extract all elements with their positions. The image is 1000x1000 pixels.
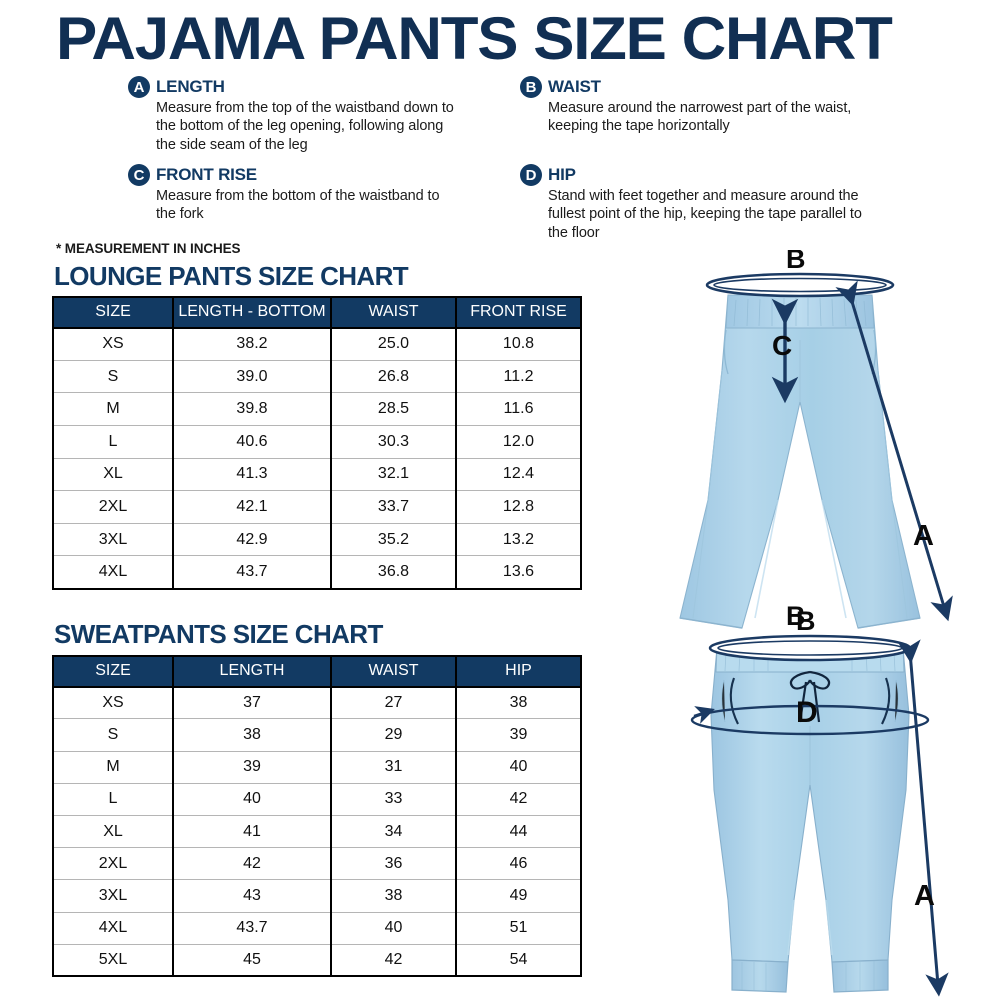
measurement-cell: 40 <box>173 783 331 815</box>
measurement-cell: 26.8 <box>331 360 456 393</box>
measurement-cell: 49 <box>456 880 581 912</box>
measurement-cell: 42.1 <box>173 491 331 524</box>
legend-label-hip: HIP <box>548 165 576 185</box>
table-row: XL41.332.112.4 <box>53 458 581 491</box>
column-header: LENGTH <box>173 656 331 687</box>
measurement-cell: 51 <box>456 912 581 944</box>
legend-desc-hip: Stand with feet together and measure aro… <box>548 187 880 242</box>
measurement-cell: 40 <box>456 751 581 783</box>
badge-a-icon: A <box>128 76 150 98</box>
column-header: WAIST <box>331 656 456 687</box>
measurement-cell: 10.8 <box>456 328 581 361</box>
legend-item-front-rise: C FRONT RISE Measure from the bottom of … <box>128 164 458 224</box>
section-heading-lounge: LOUNGE PANTS SIZE CHART <box>54 261 408 292</box>
size-cell: 4XL <box>53 556 173 589</box>
table-header-row: SIZE LENGTH WAIST HIP <box>53 656 581 687</box>
lounge-pants-diagram: B C A B <box>600 250 1000 630</box>
table-row: 3XL433849 <box>53 880 581 912</box>
measurement-cell: 42.9 <box>173 523 331 556</box>
measurement-cell: 54 <box>456 944 581 976</box>
table-row: M39.828.511.6 <box>53 393 581 426</box>
table-sweatpants: SIZE LENGTH WAIST HIP XS372738S382939M39… <box>52 655 582 977</box>
table-row: XS372738 <box>53 687 581 719</box>
legend-desc-waist: Measure around the narrowest part of the… <box>548 99 880 136</box>
size-cell: M <box>53 751 173 783</box>
size-cell: XL <box>53 458 173 491</box>
measurement-cell: 43 <box>173 880 331 912</box>
column-header: LENGTH - BOTTOM <box>173 297 331 328</box>
table-row: S39.026.811.2 <box>53 360 581 393</box>
table-row: XS38.225.010.8 <box>53 328 581 361</box>
measurement-cell: 39 <box>456 719 581 751</box>
measurement-cell: 32.1 <box>331 458 456 491</box>
sweatpants-diagram: B D A <box>620 600 1000 1000</box>
legend-desc-length: Measure from the top of the waistband do… <box>156 99 458 154</box>
measurement-cell: 38 <box>331 880 456 912</box>
measurement-cell: 43.7 <box>173 556 331 589</box>
table-row: 4XL43.736.813.6 <box>53 556 581 589</box>
measurement-cell: 13.2 <box>456 523 581 556</box>
measurement-cell: 38 <box>456 687 581 719</box>
measurement-cell: 35.2 <box>331 523 456 556</box>
column-header: WAIST <box>331 297 456 328</box>
marker-label-b-top: B <box>786 250 806 274</box>
measurement-cell: 39 <box>173 751 331 783</box>
measurement-cell: 11.2 <box>456 360 581 393</box>
measurement-cell: 31 <box>331 751 456 783</box>
measurement-cell: 29 <box>331 719 456 751</box>
legend-label-length: LENGTH <box>156 77 225 97</box>
size-cell: S <box>53 360 173 393</box>
size-cell: L <box>53 426 173 459</box>
marker-b-waist-ellipse <box>707 274 893 296</box>
measurement-cell: 33 <box>331 783 456 815</box>
legend-item-hip: D HIP Stand with feet together and measu… <box>520 164 880 242</box>
column-header: SIZE <box>53 297 173 328</box>
table-row: 5XL454254 <box>53 944 581 976</box>
legend-label-front-rise: FRONT RISE <box>156 165 257 185</box>
badge-d-icon: D <box>520 164 542 186</box>
table-row: XL413444 <box>53 816 581 848</box>
size-cell: XL <box>53 816 173 848</box>
measurement-cell: 34 <box>331 816 456 848</box>
measurement-cell: 41.3 <box>173 458 331 491</box>
table-row: 3XL42.935.213.2 <box>53 523 581 556</box>
size-cell: 5XL <box>53 944 173 976</box>
measurement-cell: 39.8 <box>173 393 331 426</box>
size-cell: 4XL <box>53 912 173 944</box>
legend-desc-front-rise: Measure from the bottom of the waistband… <box>156 187 458 224</box>
section-heading-sweatpants: SWEATPANTS SIZE CHART <box>54 619 383 650</box>
size-cell: L <box>53 783 173 815</box>
measurement-cell: 11.6 <box>456 393 581 426</box>
measurement-cell: 13.6 <box>456 556 581 589</box>
measurement-cell: 36 <box>331 848 456 880</box>
legend-item-waist: B WAIST Measure around the narrowest par… <box>520 76 880 136</box>
measurement-cell: 33.7 <box>331 491 456 524</box>
size-chart-page: PAJAMA PANTS SIZE CHART A LENGTH Measure… <box>0 0 1000 1000</box>
column-header: SIZE <box>53 656 173 687</box>
legend-label-waist: WAIST <box>548 77 601 97</box>
marker-label-d: D <box>796 696 818 729</box>
marker-label-a: A <box>913 520 934 552</box>
table-header-row: SIZE LENGTH - BOTTOM WAIST FRONT RISE <box>53 297 581 328</box>
measurement-cell: 40 <box>331 912 456 944</box>
table-row: 2XL42.133.712.8 <box>53 491 581 524</box>
legend-item-length: A LENGTH Measure from the top of the wai… <box>128 76 458 154</box>
size-cell: 2XL <box>53 491 173 524</box>
measurement-cell: 42 <box>331 944 456 976</box>
measurement-cell: 38 <box>173 719 331 751</box>
measurement-cell: 12.8 <box>456 491 581 524</box>
measurement-cell: 42 <box>456 783 581 815</box>
measurement-cell: 12.4 <box>456 458 581 491</box>
measurement-cell: 41 <box>173 816 331 848</box>
measurement-cell: 30.3 <box>331 426 456 459</box>
measurement-cell: 37 <box>173 687 331 719</box>
measurement-cell: 40.6 <box>173 426 331 459</box>
measurement-cell: 46 <box>456 848 581 880</box>
measurement-cell: 38.2 <box>173 328 331 361</box>
table-lounge-pants: SIZE LENGTH - BOTTOM WAIST FRONT RISE XS… <box>52 296 582 590</box>
measurement-cell: 45 <box>173 944 331 976</box>
size-cell: M <box>53 393 173 426</box>
measurement-cell: 43.7 <box>173 912 331 944</box>
table-row: 4XL43.74051 <box>53 912 581 944</box>
size-cell: 3XL <box>53 880 173 912</box>
badge-c-icon: C <box>128 164 150 186</box>
measurement-unit-note: * MEASUREMENT IN INCHES <box>56 241 240 256</box>
table-row: 2XL423646 <box>53 848 581 880</box>
marker-label-a: A <box>914 880 935 912</box>
column-header: FRONT RISE <box>456 297 581 328</box>
table-row: M393140 <box>53 751 581 783</box>
column-header: HIP <box>456 656 581 687</box>
size-cell: 3XL <box>53 523 173 556</box>
measurement-cell: 39.0 <box>173 360 331 393</box>
size-cell: XS <box>53 328 173 361</box>
table-row: L403342 <box>53 783 581 815</box>
size-cell: S <box>53 719 173 751</box>
lounge-pants-shape <box>680 295 920 628</box>
table-row: L40.630.312.0 <box>53 426 581 459</box>
table-row: S382939 <box>53 719 581 751</box>
measurement-cell: 44 <box>456 816 581 848</box>
measurement-cell: 42 <box>173 848 331 880</box>
marker-label-b-top: B <box>796 606 816 636</box>
page-title: PAJAMA PANTS SIZE CHART <box>56 4 983 73</box>
measurement-cell: 27 <box>331 687 456 719</box>
size-cell: XS <box>53 687 173 719</box>
size-cell: 2XL <box>53 848 173 880</box>
marker-a-length-arrow <box>910 652 938 985</box>
badge-b-icon: B <box>520 76 542 98</box>
measurement-cell: 36.8 <box>331 556 456 589</box>
measurement-cell: 12.0 <box>456 426 581 459</box>
measurement-cell: 25.0 <box>331 328 456 361</box>
marker-b-waist-ellipse <box>710 636 910 660</box>
measurement-cell: 28.5 <box>331 393 456 426</box>
marker-label-c: C <box>772 330 792 361</box>
